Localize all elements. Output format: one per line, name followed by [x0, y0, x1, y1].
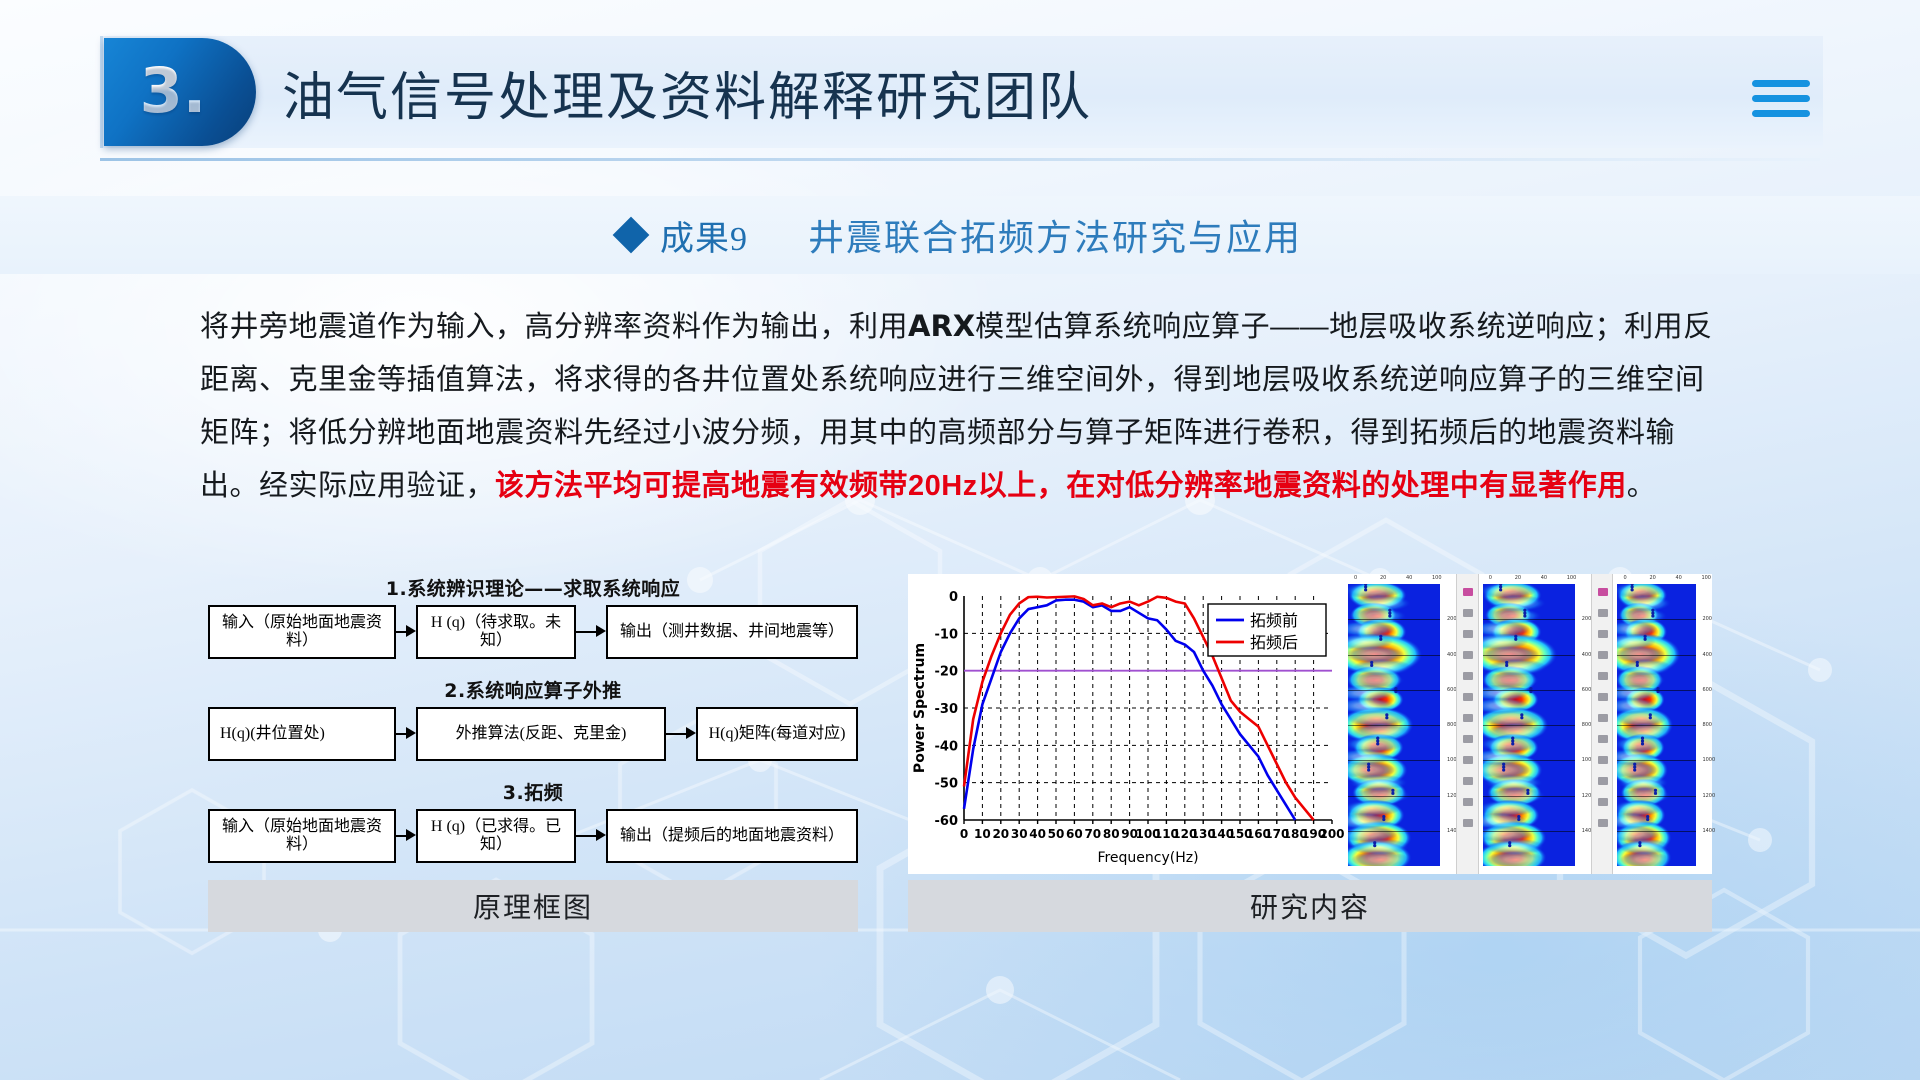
flow-box-2-process: 外推算法(反距、克里金)	[416, 707, 666, 761]
header-underline	[100, 158, 1820, 161]
body-arx-term: ARX	[908, 309, 975, 343]
flowchart-heading-1: 1.系统辨识理论——求取系统响应	[208, 574, 858, 601]
svg-text:20: 20	[992, 827, 1009, 841]
toolbar-icon-10[interactable]	[1598, 777, 1608, 785]
spectral-image	[1483, 584, 1575, 866]
body-highlight: 该方法平均可提高地震有效频带20Hz以上，在对低分辨率地震资料的处理中有显著作用	[495, 470, 1627, 502]
top-tick-label: 100	[1432, 575, 1442, 581]
arrow-icon-2b	[666, 731, 696, 737]
svg-text:60: 60	[1066, 827, 1083, 841]
toolbar-icon-7[interactable]	[1598, 714, 1608, 722]
svg-text:Frequency(Hz): Frequency(Hz)	[1097, 850, 1198, 866]
flowchart-row-1: 输入（原始地面地震资料） H (q)（待求取。未知） 输出（测井数据、井间地震等…	[208, 605, 858, 659]
toolbar-icon-1[interactable]	[1598, 588, 1608, 596]
section-number-badge: 3.	[104, 38, 256, 146]
flow-box-3-input: 输入（原始地面地震资料）	[208, 809, 396, 863]
flowchart-row-3: 输入（原始地面地震资料） H (q)（已求得。已知） 输出（提频后的地面地震资料…	[208, 809, 858, 863]
svg-text:-60: -60	[935, 814, 959, 829]
body-paragraph: 将井旁地震道作为输入，高分辨率资料作为输出，利用ARX模型估算系统响应算子——地…	[200, 300, 1730, 513]
depth-gridline	[1617, 690, 1696, 691]
flowchart-group-3: 3.拓频 输入（原始地面地震资料） H (q)（已求得。已知） 输出（提频后的地…	[208, 778, 858, 863]
body-part-1: 将井旁地震道作为输入，高分辨率资料作为输出，利用	[200, 311, 908, 343]
top-tick-label: 100	[1701, 575, 1711, 581]
depth-gridline	[1617, 725, 1696, 726]
depth-tick-label: 1000	[1702, 757, 1715, 763]
depth-tick-label: 1400	[1702, 828, 1715, 834]
toolbar-icon-4[interactable]	[1598, 651, 1608, 659]
toolbar-icon-11[interactable]	[1463, 798, 1473, 806]
depth-gridline	[1348, 619, 1440, 620]
flowchart-heading-3: 3.拓频	[208, 778, 858, 805]
flow-box-3-process: H (q)（已求得。已知）	[416, 809, 576, 863]
spectral-section-3: 02040100200400600800100012001400	[1613, 574, 1712, 874]
top-tick-label: 100	[1567, 575, 1577, 581]
flow-box-1-input: 输入（原始地面地震资料）	[208, 605, 396, 659]
flow-box-1-process: H (q)（待求取。未知）	[416, 605, 576, 659]
subtitle-text: 井震联合拓频方法研究与应用	[808, 209, 1302, 261]
body-part-3: 。	[1627, 470, 1657, 502]
svg-text:-20: -20	[935, 665, 959, 680]
menu-bar-3	[1752, 110, 1810, 117]
flow-box-2-input: H(q)(井位置处)	[208, 707, 396, 761]
depth-gridline	[1483, 619, 1575, 620]
menu-bar-1	[1752, 80, 1810, 87]
depth-gridline	[1348, 831, 1440, 832]
depth-gridline	[1483, 655, 1575, 656]
left-panel-caption: 原理框图	[208, 880, 858, 932]
svg-text:-10: -10	[935, 627, 959, 642]
toolbar-icon-10[interactable]	[1463, 777, 1473, 785]
svg-text:50: 50	[1048, 827, 1065, 841]
svg-text:70: 70	[1084, 827, 1101, 841]
toolbar-icon-11[interactable]	[1598, 798, 1608, 806]
panel-toolbar-2[interactable]	[1591, 574, 1614, 874]
spectral-image	[1617, 584, 1696, 866]
subtitle-bar: 成果9 井震联合拓频方法研究与应用	[0, 196, 1920, 274]
svg-text:10: 10	[974, 827, 991, 841]
menu-bar-2	[1752, 95, 1810, 102]
depth-gridline	[1617, 831, 1696, 832]
svg-text:40: 40	[1029, 827, 1046, 841]
toolbar-icon-5[interactable]	[1463, 672, 1473, 680]
top-tick-label: 0	[1623, 575, 1626, 581]
depth-tick-label: 400	[1702, 652, 1712, 658]
slide-header: 3. 油气信号处理及资料解释研究团队	[0, 0, 1920, 168]
arrow-icon-1b	[576, 629, 606, 635]
depth-gridline	[1617, 619, 1696, 620]
svg-text:0: 0	[949, 590, 958, 605]
flowchart-group-1: 1.系统辨识理论——求取系统响应 输入（原始地面地震资料） H (q)（待求取。…	[208, 574, 858, 659]
depth-gridline	[1348, 760, 1440, 761]
top-tick-label: 40	[1675, 575, 1681, 581]
panel-toolbar-1[interactable]	[1456, 574, 1479, 874]
top-tick-label: 40	[1541, 575, 1547, 581]
top-tick-label: 20	[1515, 575, 1521, 581]
power-spectrum-chart: 0-10-20-30-40-50-60010203040506070809010…	[908, 574, 1344, 874]
svg-text:Power Spectrum: Power Spectrum	[912, 643, 928, 773]
depth-tick-label: 800	[1702, 722, 1712, 728]
toolbar-icon-2[interactable]	[1463, 609, 1473, 617]
depth-gridline	[1348, 690, 1440, 691]
toolbar-icon-3[interactable]	[1463, 630, 1473, 638]
principle-flowchart: 1.系统辨识理论——求取系统响应 输入（原始地面地震资料） H (q)（待求取。…	[208, 574, 858, 874]
toolbar-icon-8[interactable]	[1463, 735, 1473, 743]
spectral-image	[1348, 584, 1440, 866]
diamond-bullet-icon	[613, 217, 650, 254]
depth-gridline	[1617, 655, 1696, 656]
toolbar-icon-12[interactable]	[1463, 819, 1473, 827]
depth-gridline	[1483, 760, 1575, 761]
svg-text:200: 200	[1319, 827, 1344, 841]
top-tick-label: 0	[1489, 575, 1492, 581]
svg-text:-50: -50	[935, 777, 959, 792]
toolbar-icon-6[interactable]	[1598, 693, 1608, 701]
depth-tick-label: 1200	[1702, 793, 1715, 799]
section-number: 3.	[104, 60, 242, 122]
toolbar-icon-4[interactable]	[1463, 651, 1473, 659]
spectral-section-1: 02040100200400600800100012001400	[1344, 574, 1456, 874]
toolbar-icon-12[interactable]	[1598, 819, 1608, 827]
toolbar-icon-1[interactable]	[1463, 588, 1473, 596]
toolbar-icon-6[interactable]	[1463, 693, 1473, 701]
depth-tick-label: 600	[1702, 687, 1712, 693]
flow-box-3-output: 输出（提频后的地面地震资料）	[606, 809, 858, 863]
toolbar-icon-2[interactable]	[1598, 609, 1608, 617]
depth-gridline	[1617, 796, 1696, 797]
flowchart-group-2: 2.系统响应算子外推 H(q)(井位置处) 外推算法(反距、克里金) H(q)矩…	[208, 676, 858, 761]
svg-text:0: 0	[960, 827, 968, 841]
spectral-section-2: 02040100200400600800100012001400	[1479, 574, 1591, 874]
top-tick-label: 0	[1354, 575, 1357, 581]
depth-gridline	[1483, 725, 1575, 726]
toolbar-icon-3[interactable]	[1598, 630, 1608, 638]
arrow-icon-2a	[396, 731, 416, 737]
svg-text:-40: -40	[935, 739, 959, 754]
flowchart-heading-2: 2.系统响应算子外推	[208, 676, 858, 703]
subtitle-tag: 成果9	[660, 211, 748, 260]
right-panel-caption: 研究内容	[908, 880, 1712, 932]
depth-gridline	[1348, 796, 1440, 797]
toolbar-icon-8[interactable]	[1598, 735, 1608, 743]
depth-gridline	[1483, 831, 1575, 832]
svg-text:30: 30	[1011, 827, 1028, 841]
power-spectrum-svg: 0-10-20-30-40-50-60010203040506070809010…	[908, 574, 1344, 874]
top-tick-label: 40	[1406, 575, 1412, 581]
depth-gridline	[1483, 796, 1575, 797]
top-tick-label: 20	[1649, 575, 1655, 581]
svg-text:-30: -30	[935, 702, 959, 717]
depth-tick-label: 200	[1702, 616, 1712, 622]
flow-box-1-output: 输出（测井数据、井间地震等）	[606, 605, 858, 659]
page-title: 油气信号处理及资料解释研究团队	[282, 44, 1092, 140]
seismic-sections-group: 0204010020040060080010001200140002040100…	[1344, 574, 1712, 874]
top-tick-label: 20	[1380, 575, 1386, 581]
svg-text:80: 80	[1103, 827, 1120, 841]
toolbar-icon-9[interactable]	[1598, 756, 1608, 764]
svg-text:拓频前: 拓频前	[1250, 611, 1298, 630]
arrow-icon-3b	[576, 833, 606, 839]
hamburger-menu-icon[interactable]	[1752, 80, 1810, 118]
research-content-panel: 0-10-20-30-40-50-60010203040506070809010…	[908, 574, 1712, 874]
depth-gridline	[1348, 655, 1440, 656]
toolbar-icon-5[interactable]	[1598, 672, 1608, 680]
depth-gridline	[1483, 690, 1575, 691]
depth-gridline	[1348, 725, 1440, 726]
toolbar-icon-7[interactable]	[1463, 714, 1473, 722]
arrow-icon-1a	[396, 629, 416, 635]
flowchart-row-2: H(q)(井位置处) 外推算法(反距、克里金) H(q)矩阵(每道对应)	[208, 707, 858, 761]
flow-box-2-output: H(q)矩阵(每道对应)	[696, 707, 858, 761]
toolbar-icon-9[interactable]	[1463, 756, 1473, 764]
svg-text:拓频后: 拓频后	[1250, 633, 1298, 652]
arrow-icon-3a	[396, 833, 416, 839]
depth-gridline	[1617, 760, 1696, 761]
